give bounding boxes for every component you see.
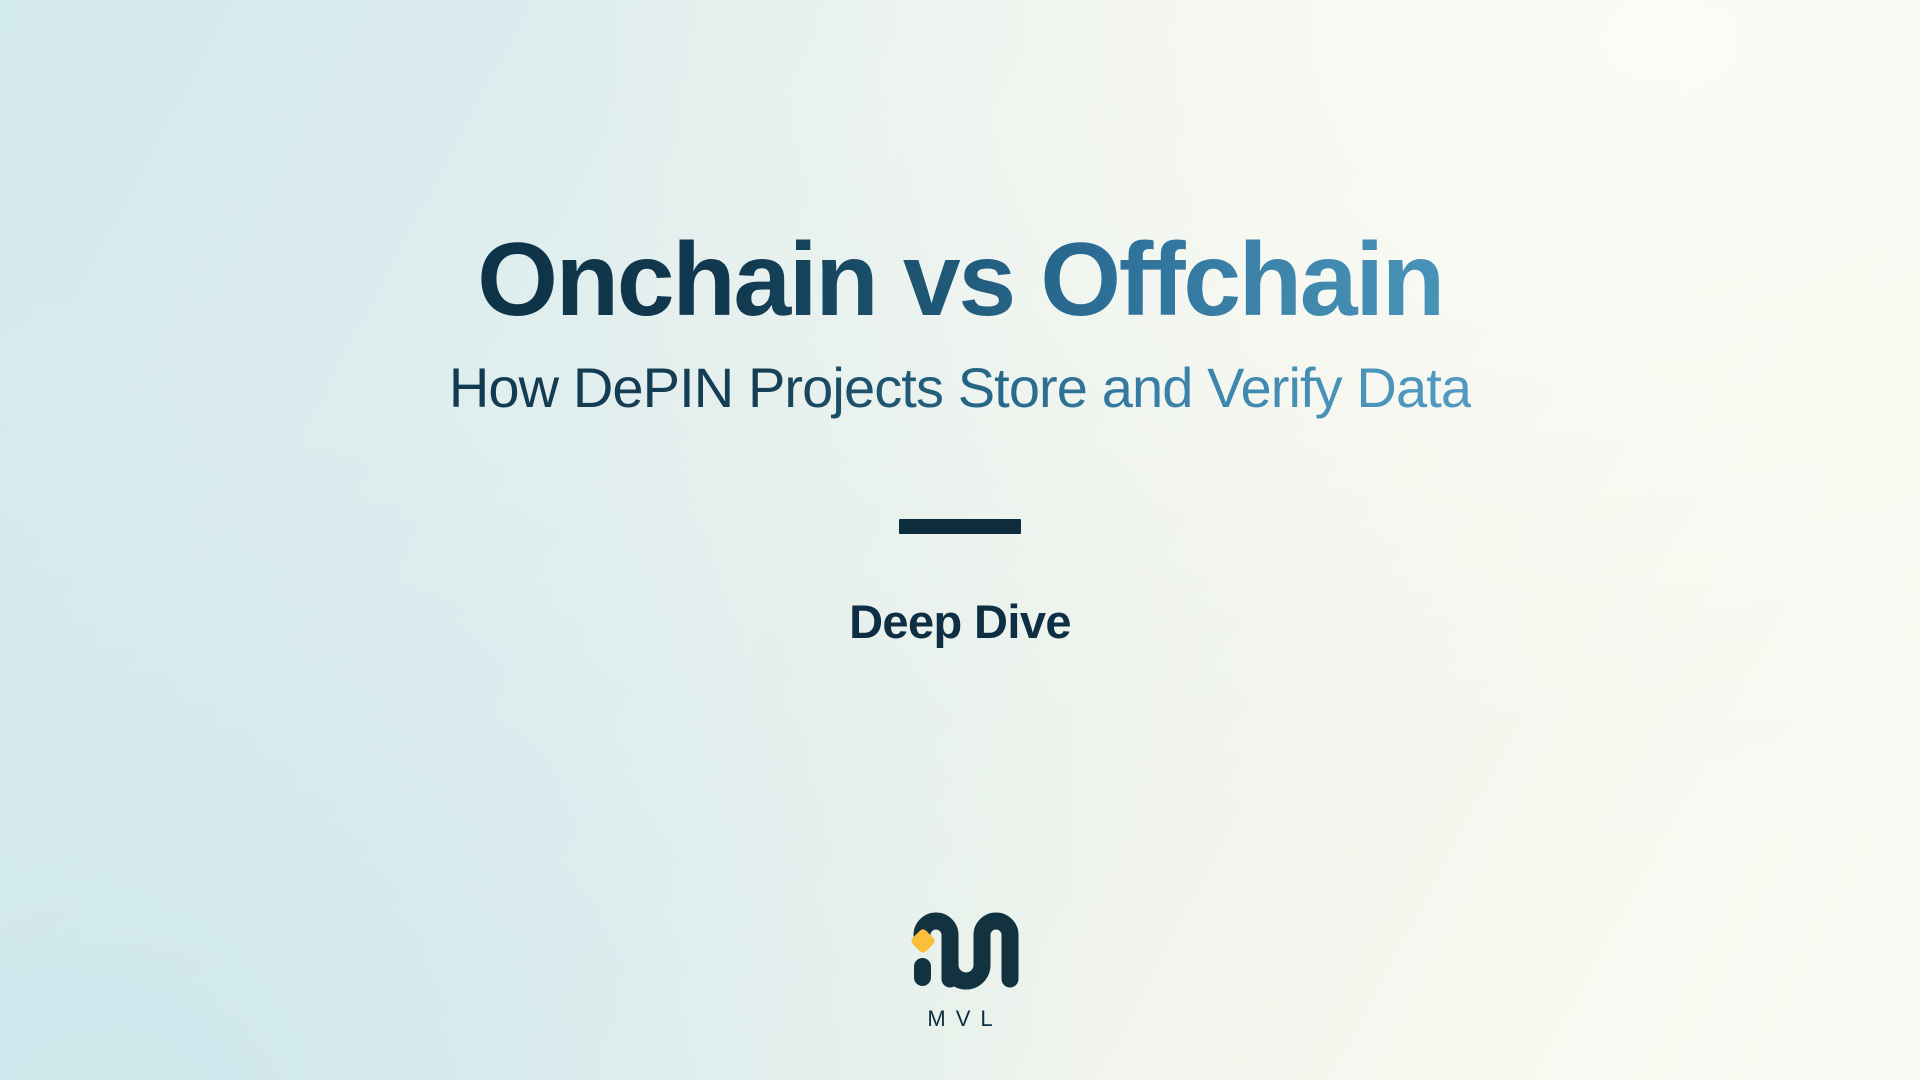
amber-diamond-dot: [910, 928, 937, 955]
brand-wordmark: MVL: [917, 1006, 1002, 1032]
brand-lockup: MVL: [0, 903, 1920, 1032]
page-title: Onchain vs Offchain: [477, 225, 1443, 335]
kicker-label: Deep Dive: [849, 594, 1071, 649]
title-divider: [899, 519, 1021, 534]
mvl-logo-icon: [896, 903, 1024, 999]
slide-content: Onchain vs Offchain How DePIN Projects S…: [0, 0, 1920, 1080]
page-subtitle: How DePIN Projects Store and Verify Data: [449, 357, 1471, 420]
slide-background: Onchain vs Offchain How DePIN Projects S…: [0, 0, 1920, 1080]
